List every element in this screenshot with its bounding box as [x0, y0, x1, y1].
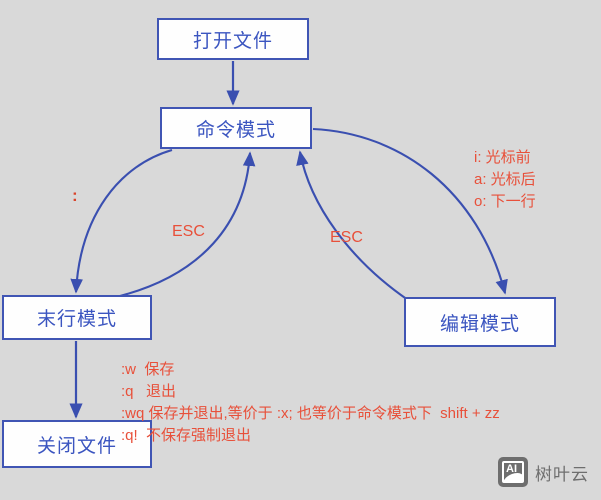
- node-open-file[interactable]: 打开文件: [157, 18, 309, 60]
- edge-label-colon: :: [72, 186, 78, 206]
- node-command-mode[interactable]: 命令模式: [160, 107, 312, 149]
- edge-label-esc-left: ESC: [172, 223, 205, 241]
- node-lastline-mode-label: 末行模式: [37, 304, 117, 331]
- exline-command-writequit: :wq 保存并退出,等价于 :x; 也等价于命令模式下 shift + zz: [121, 403, 500, 425]
- node-lastline-mode[interactable]: 末行模式: [2, 295, 152, 340]
- insert-key-line-o: o: 下一行: [474, 191, 536, 213]
- insert-key-line-a: a: 光标后: [474, 169, 536, 191]
- watermark-text: 树叶云: [535, 460, 589, 485]
- edge-command-to-lastline: [76, 150, 172, 292]
- insert-key-line-i: i: 光标前: [474, 147, 536, 169]
- watermark: AI 树叶云: [498, 457, 589, 487]
- exline-command-quit: :q 退出: [121, 381, 500, 403]
- edge-label-esc-right: ESC: [330, 229, 363, 247]
- exline-command-write: :w 保存: [121, 359, 500, 381]
- node-edit-mode[interactable]: 编辑模式: [404, 297, 556, 347]
- exline-command-forcequit: :q! 不保存强制退出: [121, 425, 500, 447]
- node-close-file-label: 关闭文件: [37, 431, 117, 458]
- node-open-file-label: 打开文件: [193, 26, 273, 53]
- edge-edit-to-command: [300, 152, 408, 300]
- image-ai-icon: AI: [498, 457, 528, 487]
- insert-keys-annotation: i: 光标前 a: 光标后 o: 下一行: [474, 147, 536, 213]
- exline-commands-annotation: :w 保存 :q 退出 :wq 保存并退出,等价于 :x; 也等价于命令模式下 …: [121, 359, 500, 447]
- node-edit-mode-label: 编辑模式: [440, 309, 520, 336]
- node-command-mode-label: 命令模式: [196, 115, 276, 142]
- diagram-canvas: 打开文件 命令模式 末行模式 编辑模式 关闭文件 : ESC ESC i: 光标…: [0, 0, 601, 500]
